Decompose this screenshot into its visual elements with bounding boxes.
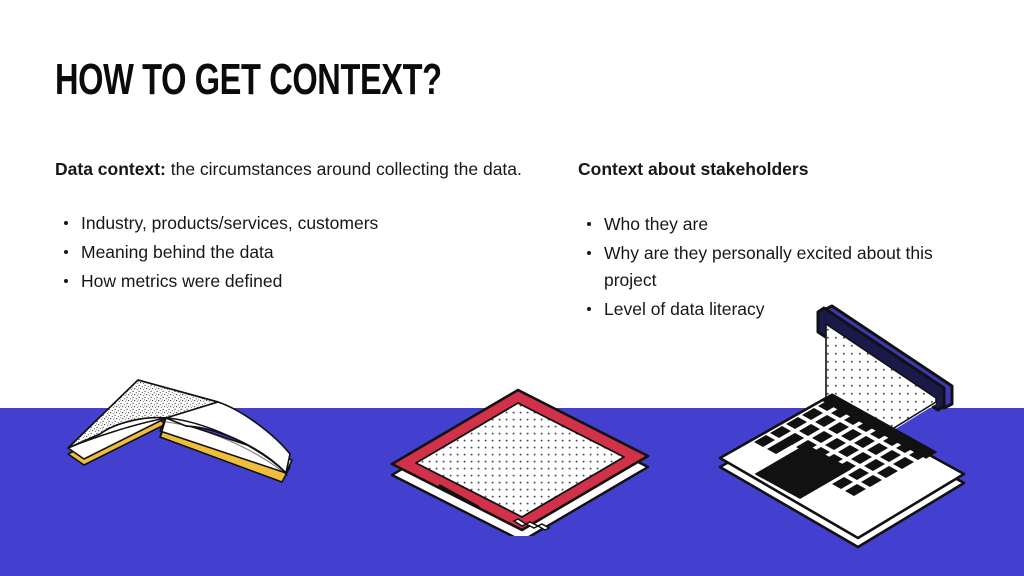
list-item: Who they are [578,211,978,238]
list-item: Why are they personally excited about th… [578,240,978,294]
laptop-illustration [714,288,984,558]
data-context-label: Data context: [55,159,166,179]
list-item: How metrics were defined [55,268,525,295]
data-context-lead: Data context: the circumstances around c… [55,155,525,184]
stakeholder-context-heading: Context about stakeholders [578,155,978,184]
data-context-description: the circumstances around collecting the … [166,159,522,179]
left-column: Data context: the circumstances around c… [55,155,525,297]
open-book-illustration [60,372,320,527]
list-item: Meaning behind the data [55,239,525,266]
page-title: HOW TO GET CONTEXT? [55,58,442,102]
left-bullet-list: Industry, products/services, customers M… [55,210,525,295]
list-item: Industry, products/services, customers [55,210,525,237]
tablet-illustration [386,376,654,536]
slide-canvas: HOW TO GET CONTEXT? Data context: the ci… [0,0,1024,576]
